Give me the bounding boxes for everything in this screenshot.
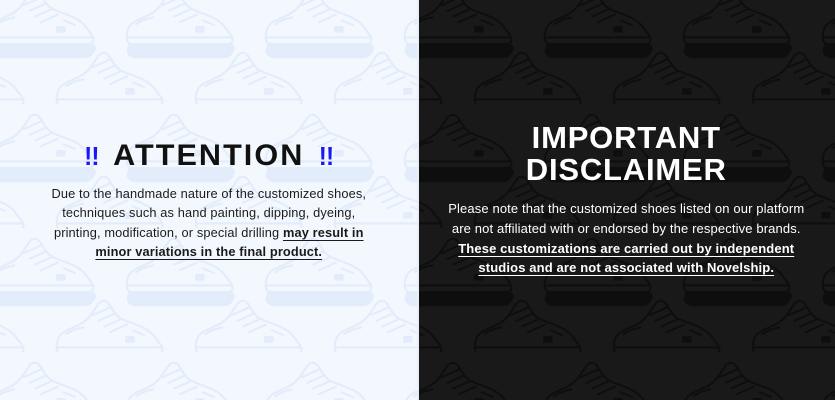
panel-divider	[417, 0, 419, 400]
disclaimer-heading-line-2: DISCLAIMER	[446, 154, 808, 186]
attention-panel: !! ATTENTION !! Due to the handmade natu…	[0, 0, 418, 400]
disclaimer-body: Please note that the customized shoes li…	[446, 199, 808, 278]
disclaimer-content: IMPORTANT DISCLAIMER Please note that th…	[418, 122, 835, 278]
attention-heading: !! ATTENTION !!	[41, 141, 377, 171]
disclaimer-body-emphasis: These customizations are carried out by …	[458, 241, 794, 276]
exclamation-marks-right-icon: !!	[319, 143, 333, 169]
disclaimer-panel: IMPORTANT DISCLAIMER Please note that th…	[418, 0, 835, 400]
disclaimer-heading-line-1: IMPORTANT	[446, 122, 808, 154]
attention-content: !! ATTENTION !! Due to the handmade natu…	[0, 141, 418, 262]
attention-heading-text: ATTENTION	[113, 141, 304, 171]
attention-body: Due to the handmade nature of the custom…	[44, 184, 374, 262]
dual-notice-banner: !! ATTENTION !! Due to the handmade natu…	[0, 0, 835, 400]
disclaimer-heading: IMPORTANT DISCLAIMER	[446, 122, 808, 186]
disclaimer-body-normal: Please note that the customized shoes li…	[448, 201, 804, 236]
exclamation-marks-left-icon: !!	[84, 143, 98, 169]
